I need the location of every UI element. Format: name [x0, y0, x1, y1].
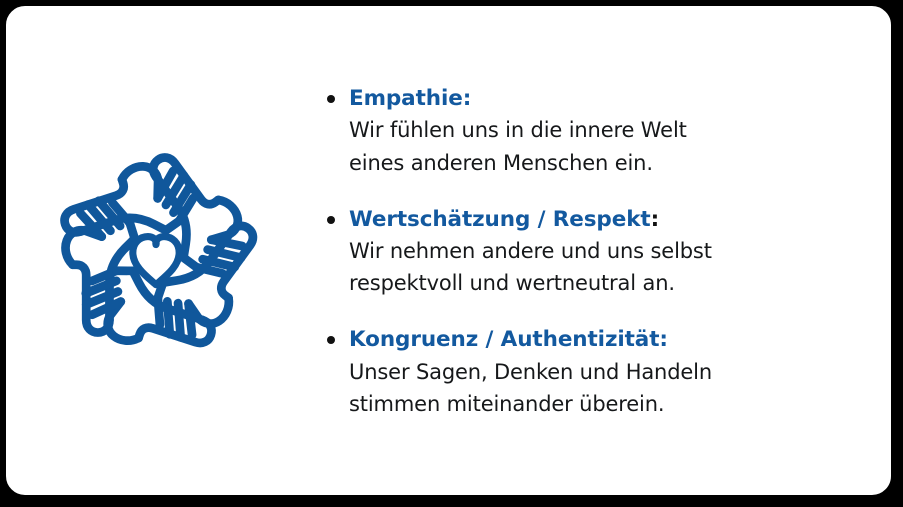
bullet-icon: [327, 95, 335, 103]
value-body: Wir fühlen uns in die innere Welt eines …: [349, 114, 867, 178]
value-body-line: Wir nehmen andere und uns selbst: [349, 235, 867, 267]
bullet-icon: [327, 216, 335, 224]
value-body: Wir nehmen andere und uns selbst respekt…: [349, 235, 867, 299]
value-heading: Kongruenz / Authentizität:: [349, 326, 867, 354]
illustration-pane: [6, 120, 306, 382]
value-body-line: stimmen miteinander überein.: [349, 388, 867, 420]
five-hands-around-heart-icon: [30, 130, 282, 382]
value-heading: Wertschätzung / Respekt:: [349, 206, 867, 234]
list-item: Empathie: Wir fühlen uns in die innere W…: [324, 85, 867, 179]
content-row: Empathie: Wir fühlen uns in die innere W…: [6, 6, 891, 495]
value-heading-text: Wertschätzung / Respekt: [349, 207, 651, 232]
value-body: Unser Sagen, Denken und Handeln stimmen …: [349, 356, 867, 420]
value-body-line: eines anderen Menschen ein.: [349, 147, 867, 179]
value-heading-colon: :: [651, 207, 660, 232]
list-item: Kongruenz / Authentizität: Unser Sagen, …: [324, 326, 867, 420]
value-body-line: Wir fühlen uns in die innere Welt: [349, 114, 867, 146]
values-list: Empathie: Wir fühlen uns in die innere W…: [324, 85, 867, 420]
bullet-icon: [327, 336, 335, 344]
value-body-line: Unser Sagen, Denken und Handeln: [349, 356, 867, 388]
value-body-line: respektvoll und wertneutral an.: [349, 267, 867, 299]
value-heading: Empathie:: [349, 85, 867, 113]
slide-card: Empathie: Wir fühlen uns in die innere W…: [3, 3, 894, 498]
values-pane: Empathie: Wir fühlen uns in die innere W…: [306, 81, 891, 420]
list-item: Wertschätzung / Respekt: Wir nehmen ande…: [324, 206, 867, 300]
